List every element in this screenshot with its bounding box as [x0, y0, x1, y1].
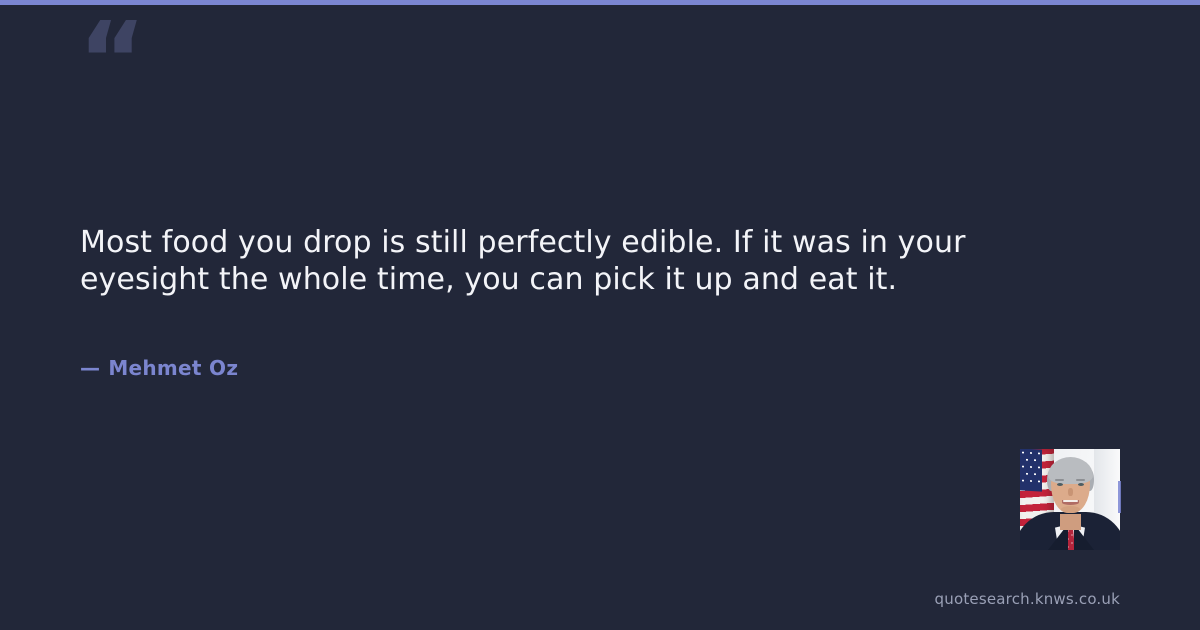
quote-card: “ Most food you drop is still perfectly … — [0, 0, 1200, 630]
portrait-eye-left — [1057, 483, 1063, 486]
portrait-nose — [1068, 488, 1073, 496]
author-portrait — [1020, 449, 1120, 550]
attribution-dash: — — [80, 356, 100, 380]
top-accent-bar — [0, 0, 1200, 5]
author-name: Mehmet Oz — [108, 356, 238, 380]
portrait-eye-right — [1078, 483, 1084, 486]
us-flag-canton — [1020, 449, 1042, 492]
portrait-teeth — [1063, 500, 1078, 502]
quote-text: Most food you drop is still perfectly ed… — [80, 224, 1010, 298]
opening-quote-icon: “ — [78, 8, 144, 112]
quote-block: Most food you drop is still perfectly ed… — [80, 224, 1010, 298]
portrait-chin — [1061, 506, 1080, 513]
portrait-neck — [1060, 514, 1081, 530]
source-url: quotesearch.knws.co.uk — [935, 590, 1120, 608]
quote-attribution: —Mehmet Oz — [80, 356, 238, 380]
portrait-image — [1020, 449, 1120, 550]
portrait-brow-right — [1076, 479, 1085, 481]
portrait-accent-edge — [1118, 481, 1121, 513]
portrait-brow-left — [1055, 479, 1064, 481]
